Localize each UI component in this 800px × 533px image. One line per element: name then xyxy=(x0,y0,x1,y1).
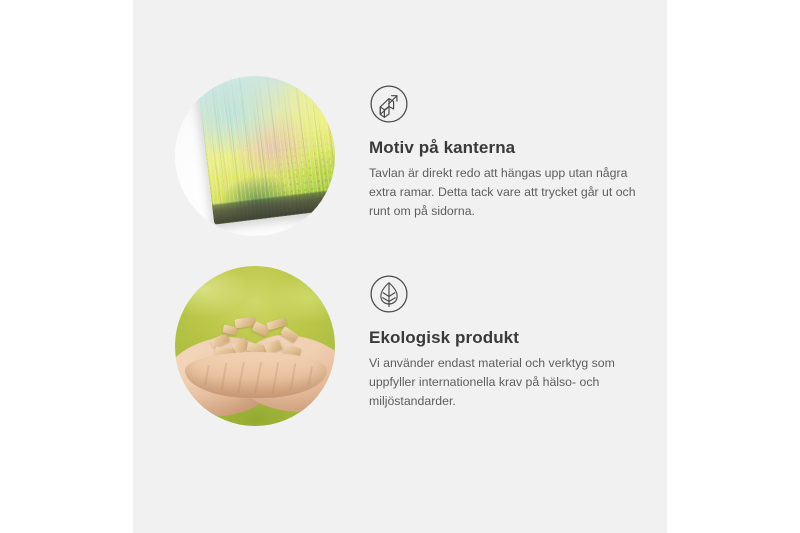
feature-body: Vi använder endast material och verktyg … xyxy=(369,354,641,410)
canvas-edge-print-icon xyxy=(369,84,409,124)
canvas-corner-photo xyxy=(175,76,335,236)
canvas-block xyxy=(197,76,335,225)
feature-text-canvas-edges: Motiv på kanterna Tavlan är direkt redo … xyxy=(369,76,641,220)
promo-graphic: Motiv på kanterna Tavlan är direkt redo … xyxy=(0,0,800,533)
leaf-icon xyxy=(369,274,409,314)
feature-row-eco-product: Ekologisk produkt Vi använder endast mat… xyxy=(175,266,641,426)
feature-title: Motiv på kanterna xyxy=(369,138,641,158)
feature-row-canvas-edges: Motiv på kanterna Tavlan är direkt redo … xyxy=(175,76,641,236)
feature-title: Ekologisk produkt xyxy=(369,328,641,348)
feature-text-eco-product: Ekologisk produkt Vi använder endast mat… xyxy=(369,266,641,410)
feature-body: Tavlan är direkt redo att hängas upp uta… xyxy=(369,164,641,220)
eco-hands-photo xyxy=(175,266,335,426)
